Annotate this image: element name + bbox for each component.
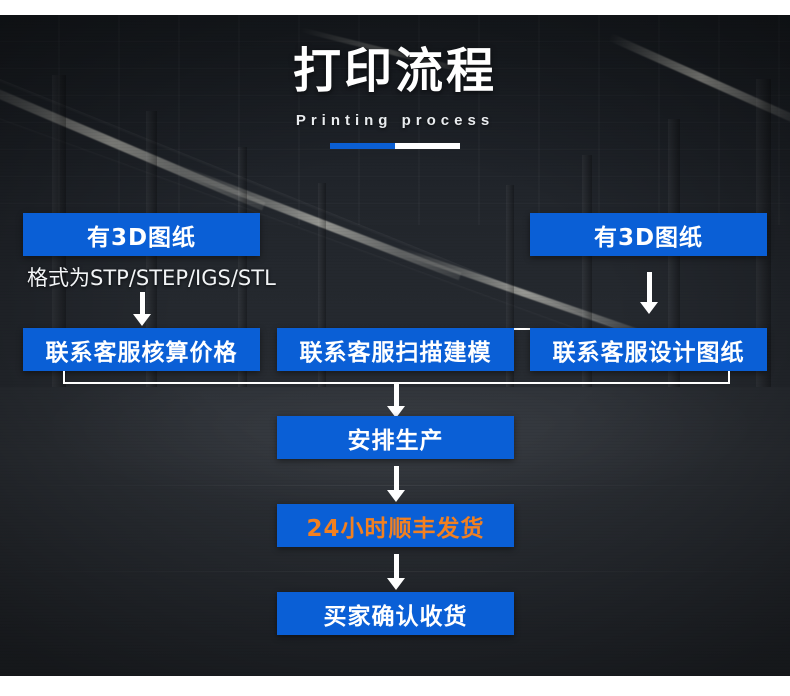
page-title: 打印流程 — [0, 45, 790, 98]
page-subtitle: Printing process — [0, 112, 790, 129]
page-header: 打印流程 Printing process — [0, 45, 790, 149]
arrow-right-down — [638, 272, 660, 314]
arrow-to-buyer-confirm — [385, 554, 407, 590]
title-underline — [330, 143, 460, 149]
format-note: 格式为STP/STEP/IGS/STL — [27, 262, 276, 292]
flow-box-contact-service-quote[interactable]: 联系客服核算价格 — [23, 328, 260, 371]
arrow-to-production — [385, 382, 407, 418]
title-underline-blue-segment — [330, 143, 395, 149]
flow-box-left-has-3d-drawing[interactable]: 有3D图纸 — [23, 213, 260, 256]
flow-box-right-has-3d-drawing[interactable]: 有3D图纸 — [530, 213, 767, 256]
flow-box-contact-service-design-drawing[interactable]: 联系客服设计图纸 — [530, 328, 767, 371]
arrow-left-down — [131, 292, 153, 326]
flow-box-24h-sf-express-shipping[interactable]: 24小时顺丰发货 — [277, 504, 514, 547]
flowchart-page: 打印流程 Printing process 有3D图纸 有3D图纸 格式为STP… — [0, 0, 790, 696]
flow-box-buyer-confirm-receipt[interactable]: 买家确认收货 — [277, 592, 514, 635]
flow-box-contact-service-scan-model[interactable]: 联系客服扫描建模 — [277, 328, 514, 371]
title-underline-white-segment — [395, 143, 460, 149]
flow-box-arrange-production[interactable]: 安排生产 — [277, 416, 514, 459]
arrow-to-shipping — [385, 466, 407, 502]
